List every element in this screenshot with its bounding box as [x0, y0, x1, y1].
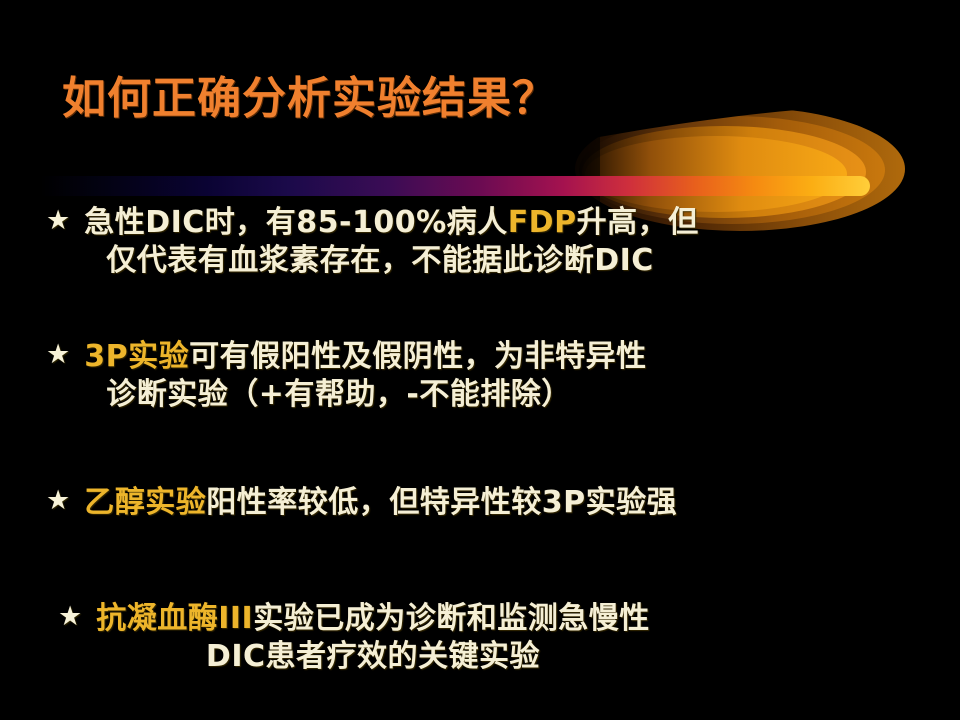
- bullet-item-3: ★ 乙醇实验阳性率较低，但特异性较3P实验强: [46, 484, 677, 522]
- bullet-item-2: ★ 3P实验可有假阳性及假阴性，为非特异性 诊断实验（+有帮助，-不能排除）: [46, 338, 647, 415]
- bullet-4-line2: DIC患者疗效的关键实验: [96, 638, 650, 676]
- bullet-3-line1: 乙醇实验阳性率较低，但特异性较3P实验强: [84, 485, 677, 520]
- gradient-divider-bar: [40, 176, 870, 196]
- bullet-2-highlight-3p: 3P实验: [84, 339, 189, 374]
- star-bullet-icon: ★: [46, 338, 70, 373]
- bullet-3-highlight-ethanol: 乙醇实验: [84, 485, 206, 520]
- bullet-text-2: 3P实验可有假阳性及假阴性，为非特异性 诊断实验（+有帮助，-不能排除）: [84, 338, 646, 415]
- bullet-1-highlight-fdp: FDP: [508, 205, 577, 240]
- bullet-1-segment-b: 升高，但: [577, 205, 699, 240]
- star-bullet-icon: ★: [58, 600, 82, 635]
- bullet-4-line1: 抗凝血酶III实验已成为诊断和监测急慢性: [96, 601, 650, 636]
- star-bullet-icon: ★: [46, 484, 70, 519]
- bullet-item-4: ★ 抗凝血酶III实验已成为诊断和监测急慢性 DIC患者疗效的关键实验: [58, 600, 650, 677]
- bullet-4-highlight-at3: 抗凝血酶III: [96, 601, 253, 636]
- bullet-text-1: 急性DIC时，有85-100%病人FDP升高，但 仅代表有血浆素存在，不能据此诊…: [84, 204, 698, 281]
- bullet-item-1: ★ 急性DIC时，有85-100%病人FDP升高，但 仅代表有血浆素存在，不能据…: [46, 204, 699, 281]
- bullet-text-3: 乙醇实验阳性率较低，但特异性较3P实验强: [84, 484, 677, 522]
- bullet-2-line2: 诊断实验（+有帮助，-不能排除）: [84, 376, 646, 414]
- bullet-2-line1: 3P实验可有假阳性及假阴性，为非特异性: [84, 339, 646, 374]
- bullet-3-segment-a: 阳性率较低，但特异性较3P实验强: [206, 485, 677, 520]
- page-title: 如何正确分析实验结果？: [62, 62, 557, 126]
- star-bullet-icon: ★: [46, 204, 70, 239]
- bullet-1-segment-a: 急性DIC时，有85-100%病人: [84, 205, 507, 240]
- bullet-1-line2: 仅代表有血浆素存在，不能据此诊断DIC: [84, 242, 698, 280]
- bullet-4-segment-a: 实验已成为诊断和监测急慢性: [253, 601, 650, 636]
- bullet-2-segment-a: 可有假阳性及假阴性，为非特异性: [189, 339, 647, 374]
- bullet-1-line1: 急性DIC时，有85-100%病人FDP升高，但: [84, 205, 698, 240]
- presentation-slide: 如何正确分析实验结果？ ★ 急性DIC时，有85-100%病人FDP升高，但 仅…: [0, 0, 960, 720]
- bullet-text-4: 抗凝血酶III实验已成为诊断和监测急慢性 DIC患者疗效的关键实验: [96, 600, 650, 677]
